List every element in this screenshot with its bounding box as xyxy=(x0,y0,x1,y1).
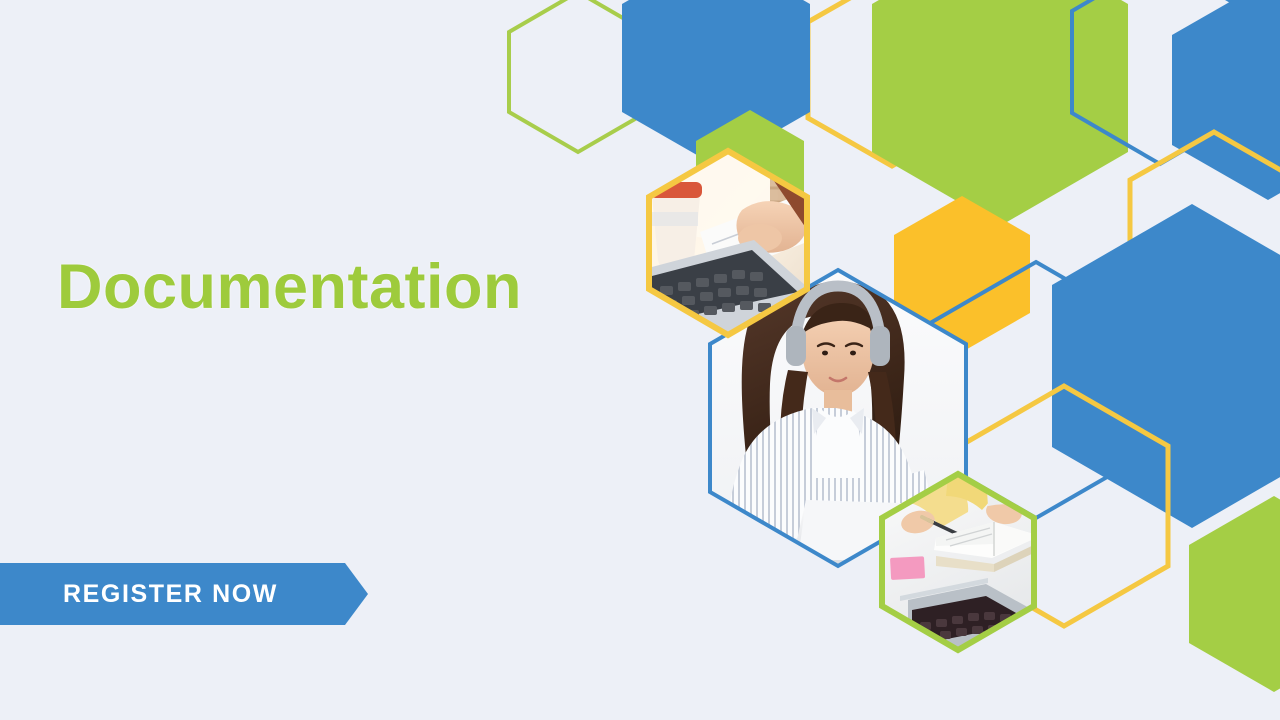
slide-canvas: Documentation REGISTER NOW xyxy=(0,0,1280,720)
register-now-label: REGISTER NOW xyxy=(0,563,345,625)
page-title: Documentation xyxy=(57,249,522,325)
register-now-button[interactable]: REGISTER NOW xyxy=(0,563,368,625)
